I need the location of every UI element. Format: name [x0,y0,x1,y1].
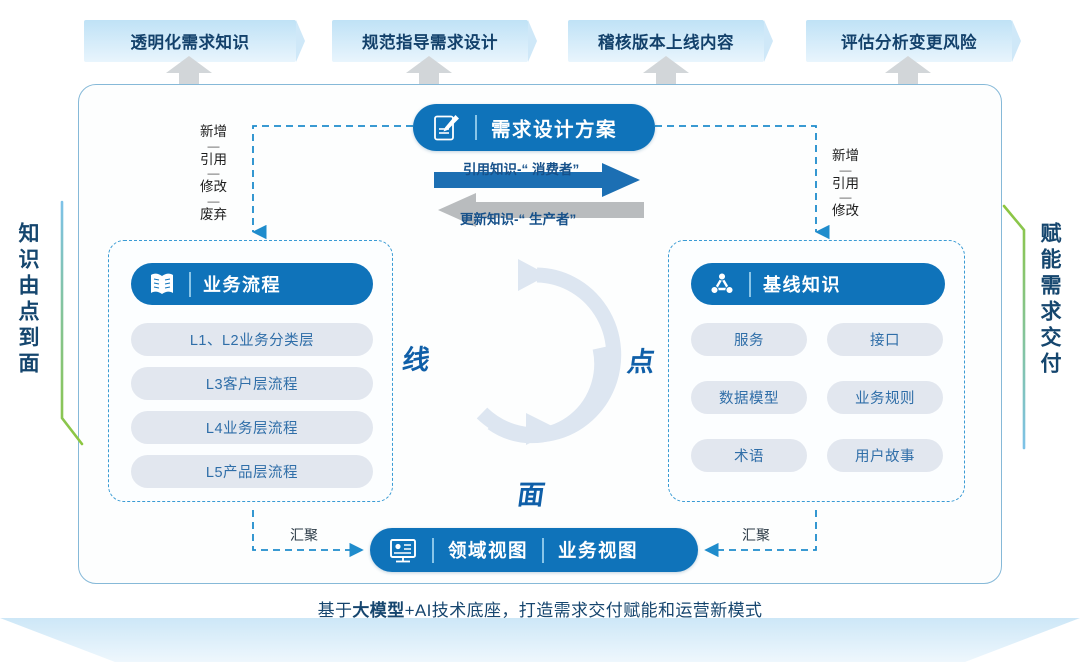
right-gradient-arrow-icon [1000,200,1034,450]
aggregate-label-right: 汇聚 [742,525,770,545]
document-edit-icon [431,113,461,143]
scheme-label: 需求设计方案 [491,113,617,142]
business-process-header[interactable]: 业务流程 [131,263,373,305]
book-open-icon [147,269,177,299]
knowledge-chip-2[interactable]: 接口 [827,323,943,356]
aggregate-label-left: 汇聚 [290,525,318,545]
baseline-knowledge-header[interactable]: 基线知识 [691,263,945,305]
produce-knowledge-label: 更新知识-“ 生产者” [460,208,576,228]
bottom-trapezoid-banner [0,618,1080,664]
side-caption-left: 知识由点到面 [16,222,38,378]
annotation-dash: — [200,195,227,207]
annotation-item: 新增 [832,148,859,164]
cycle-label-plane: 面 [515,473,547,512]
top-outcome-label: 规范指导需求设计 [362,29,498,53]
pill-divider [432,538,434,563]
knowledge-chip-6[interactable]: 用户故事 [827,439,943,472]
annotation-item: 修改 [200,179,227,195]
annotation-item: 新增 [200,124,227,140]
knowledge-chip-1[interactable]: 服务 [691,323,807,356]
panel-title: 基线知识 [763,271,841,297]
diagram-canvas: 透明化需求知识 规范指导需求设计 稽核版本上线内容 评估分析变更风险 知识由点到… [0,0,1080,664]
top-outcome-label: 透明化需求知识 [131,29,250,53]
process-chip-1[interactable]: L1、L2业务分类层 [131,323,373,356]
views-pill[interactable]: 领域视图 业务视图 [370,528,698,572]
domain-view-label: 领域视图 [448,537,528,563]
top-outcome-label: 稽核版本上线内容 [598,29,734,53]
presentation-board-icon [388,535,418,565]
annotation-item: 修改 [832,203,859,219]
requirement-design-scheme-pill[interactable]: 需求设计方案 [413,104,655,151]
annotation-item: 废弃 [200,207,227,223]
pill-divider [542,538,544,563]
business-view-label: 业务视图 [558,537,638,563]
business-process-panel: 业务流程 L1、L2业务分类层 L3客户层流程 L4业务层流程 L5产品层流程 [108,240,393,502]
process-chip-2[interactable]: L3客户层流程 [131,367,373,400]
annotation-dash: — [832,164,859,176]
pill-divider [749,272,751,297]
network-nodes-icon [707,269,737,299]
annotation-item: 引用 [200,152,227,168]
top-outcome-label: 评估分析变更风险 [841,29,977,53]
pill-divider [189,272,191,297]
cycle-arrows-icon [452,253,622,458]
annotation-list-right: 新增 — 引用 — 修改 [832,148,859,219]
annotation-item: 引用 [832,176,859,192]
process-chip-4[interactable]: L5产品层流程 [131,455,373,488]
annotation-dash: — [200,140,227,152]
side-caption-right: 赋能需求交付 [1038,222,1060,378]
annotation-list-left: 新增 — 引用 — 修改 — 废弃 [200,124,227,223]
panel-title: 业务流程 [203,271,281,297]
baseline-knowledge-panel: 基线知识 服务 接口 数据模型 业务规则 术语 用户故事 [668,240,965,502]
left-gradient-arrow-icon [52,200,86,450]
pill-divider [475,115,477,140]
consume-knowledge-label: 引用知识-“ 消费者” [463,158,579,178]
knowledge-chip-4[interactable]: 业务规则 [827,381,943,414]
knowledge-chip-5[interactable]: 术语 [691,439,807,472]
annotation-dash: — [200,167,227,179]
process-chip-3[interactable]: L4业务层流程 [131,411,373,444]
cycle-label-point: 点 [625,340,657,379]
knowledge-chip-3[interactable]: 数据模型 [691,381,807,414]
annotation-dash: — [832,191,859,203]
cycle-label-line: 线 [400,338,432,377]
